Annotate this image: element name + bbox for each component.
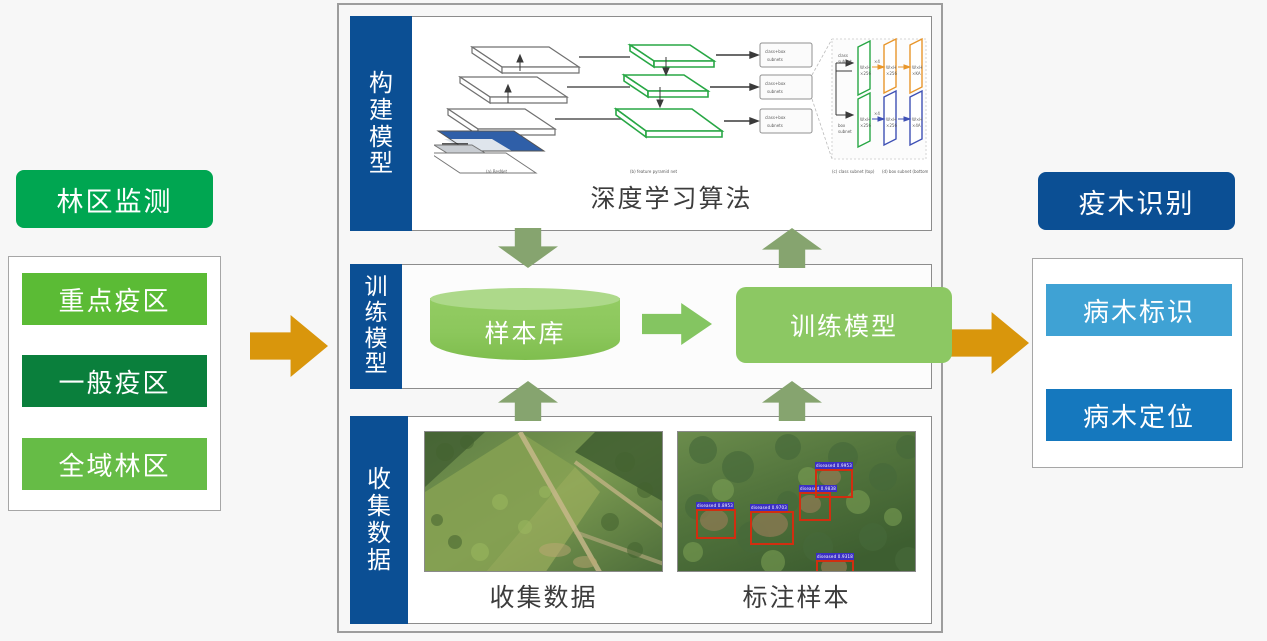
row-collect-data: 收 集 数 据: [350, 416, 932, 624]
bbox-label-4: diseased 0.9318: [816, 553, 854, 560]
svg-text:subnets: subnets: [767, 123, 783, 128]
svg-text:subnet: subnet: [838, 129, 852, 134]
svg-text:W×H: W×H: [886, 65, 896, 70]
collected-data-photo-wrap: 收集数据: [424, 431, 663, 614]
vlabel-char-2: 数: [367, 520, 391, 547]
right-item-diseased-tree-marking[interactable]: 病木标识: [1046, 284, 1232, 336]
aerial-forest-photo[interactable]: [424, 431, 663, 572]
svg-text:class+box: class+box: [765, 81, 786, 86]
row-train-model: 训 练 模 型 样本库 训练模型: [350, 264, 932, 389]
vlabel-char-0: 收: [367, 466, 391, 493]
svg-text:(d) box subnet (bottom): (d) box subnet (bottom): [882, 169, 928, 174]
cylinder-top-ellipse: [430, 288, 620, 310]
bbox-4: [816, 560, 854, 572]
row-label-build-model: 构 建 模 型: [350, 16, 412, 231]
svg-text:×4A: ×4A: [912, 123, 921, 128]
right-header-chip-diseased-tree-recognition[interactable]: 疫木识别: [1038, 172, 1235, 230]
vlabel-char-1: 练: [365, 301, 388, 327]
right-item-diseased-tree-locating[interactable]: 病木定位: [1046, 389, 1232, 441]
vlabel-char-3: 型: [365, 352, 388, 378]
row-collect-data-body: 收集数据: [408, 416, 932, 624]
sample-database-cylinder[interactable]: 样本库: [430, 288, 620, 363]
svg-text:×KA: ×KA: [912, 71, 921, 76]
row-train-model-body: 样本库 训练模型: [402, 264, 932, 389]
vlabel-char-0: 构: [369, 70, 393, 97]
svg-text:(b) feature pyramid net: (b) feature pyramid net: [630, 169, 677, 174]
bbox-label-0: diseased 0.8953: [696, 502, 734, 509]
vlabel-char-3: 型: [369, 150, 393, 177]
bbox-label-3: diseased 0.9953: [815, 462, 853, 469]
svg-text:×4: ×4: [874, 111, 880, 116]
svg-text:W×H: W×H: [912, 117, 922, 122]
svg-text:box: box: [838, 123, 846, 128]
row-build-model-body: class+box subnets class+box subnets clas…: [412, 16, 932, 231]
collected-data-caption: 收集数据: [424, 578, 663, 614]
row-label-collect-data: 收 集 数 据: [350, 416, 408, 624]
bbox-3: [815, 469, 853, 498]
svg-text:W×H: W×H: [886, 117, 896, 122]
svg-text:×256: ×256: [886, 71, 897, 76]
svg-text:class+box: class+box: [765, 49, 786, 54]
vlabel-char-2: 模: [365, 327, 388, 353]
vlabel-char-2: 模: [369, 124, 393, 151]
svg-text:subnets: subnets: [767, 57, 783, 62]
arrow-right-icon-sample-to-train: [642, 303, 712, 345]
svg-text:×4: ×4: [874, 59, 880, 64]
svg-text:(a) ResNet: (a) ResNet: [486, 169, 507, 174]
svg-text:W×H: W×H: [860, 117, 870, 122]
svg-text:W×H: W×H: [912, 65, 922, 70]
row-label-train-model: 训 练 模 型: [350, 264, 402, 389]
bbox-0: [696, 509, 736, 539]
vlabel-char-1: 集: [367, 493, 391, 520]
sample-database-label: 样本库: [430, 314, 620, 350]
left-item-whole-forest-area[interactable]: 全域林区: [22, 438, 207, 490]
vlabel-char-1: 建: [369, 97, 393, 124]
svg-text:×256: ×256: [860, 71, 871, 76]
arrow-right-icon-center-to-right: [951, 312, 1029, 374]
svg-text:×256: ×256: [886, 123, 897, 128]
vlabel-char-3: 据: [367, 547, 391, 574]
annotated-forest-photo[interactable]: diseased 0.8953 diseased 0.9703 diseased…: [677, 431, 916, 572]
svg-text:×256: ×256: [860, 123, 871, 128]
annotated-sample-photo-wrap: diseased 0.8953 diseased 0.9703 diseased…: [677, 431, 916, 614]
svg-text:class+box: class+box: [765, 115, 786, 120]
bbox-label-1: diseased 0.9703: [750, 504, 788, 511]
bbox-1: [750, 511, 794, 545]
svg-text:subnet: subnet: [838, 59, 852, 64]
train-model-box[interactable]: 训练模型: [736, 287, 952, 363]
vlabel-char-0: 训: [365, 275, 388, 301]
left-item-key-epidemic-area[interactable]: 重点疫区: [22, 273, 207, 325]
center-pipeline-panel: 构 建 模 型: [337, 3, 943, 633]
left-header-chip-forest-monitoring[interactable]: 林区监测: [16, 170, 213, 228]
svg-text:W×H: W×H: [860, 65, 870, 70]
left-item-general-epidemic-area[interactable]: 一般疫区: [22, 355, 207, 407]
svg-text:class: class: [838, 53, 848, 58]
svg-text:(c) class subnet (top): (c) class subnet (top): [832, 169, 875, 174]
annotated-sample-caption: 标注样本: [677, 578, 916, 614]
deep-learning-algorithm-caption: 深度学习算法: [412, 179, 931, 215]
arrow-right-icon-left-to-center: [250, 315, 328, 377]
svg-text:subnets: subnets: [767, 89, 783, 94]
row-build-model: 构 建 模 型: [350, 16, 932, 231]
retinanet-architecture-figure: class+box subnets class+box subnets clas…: [434, 27, 928, 177]
